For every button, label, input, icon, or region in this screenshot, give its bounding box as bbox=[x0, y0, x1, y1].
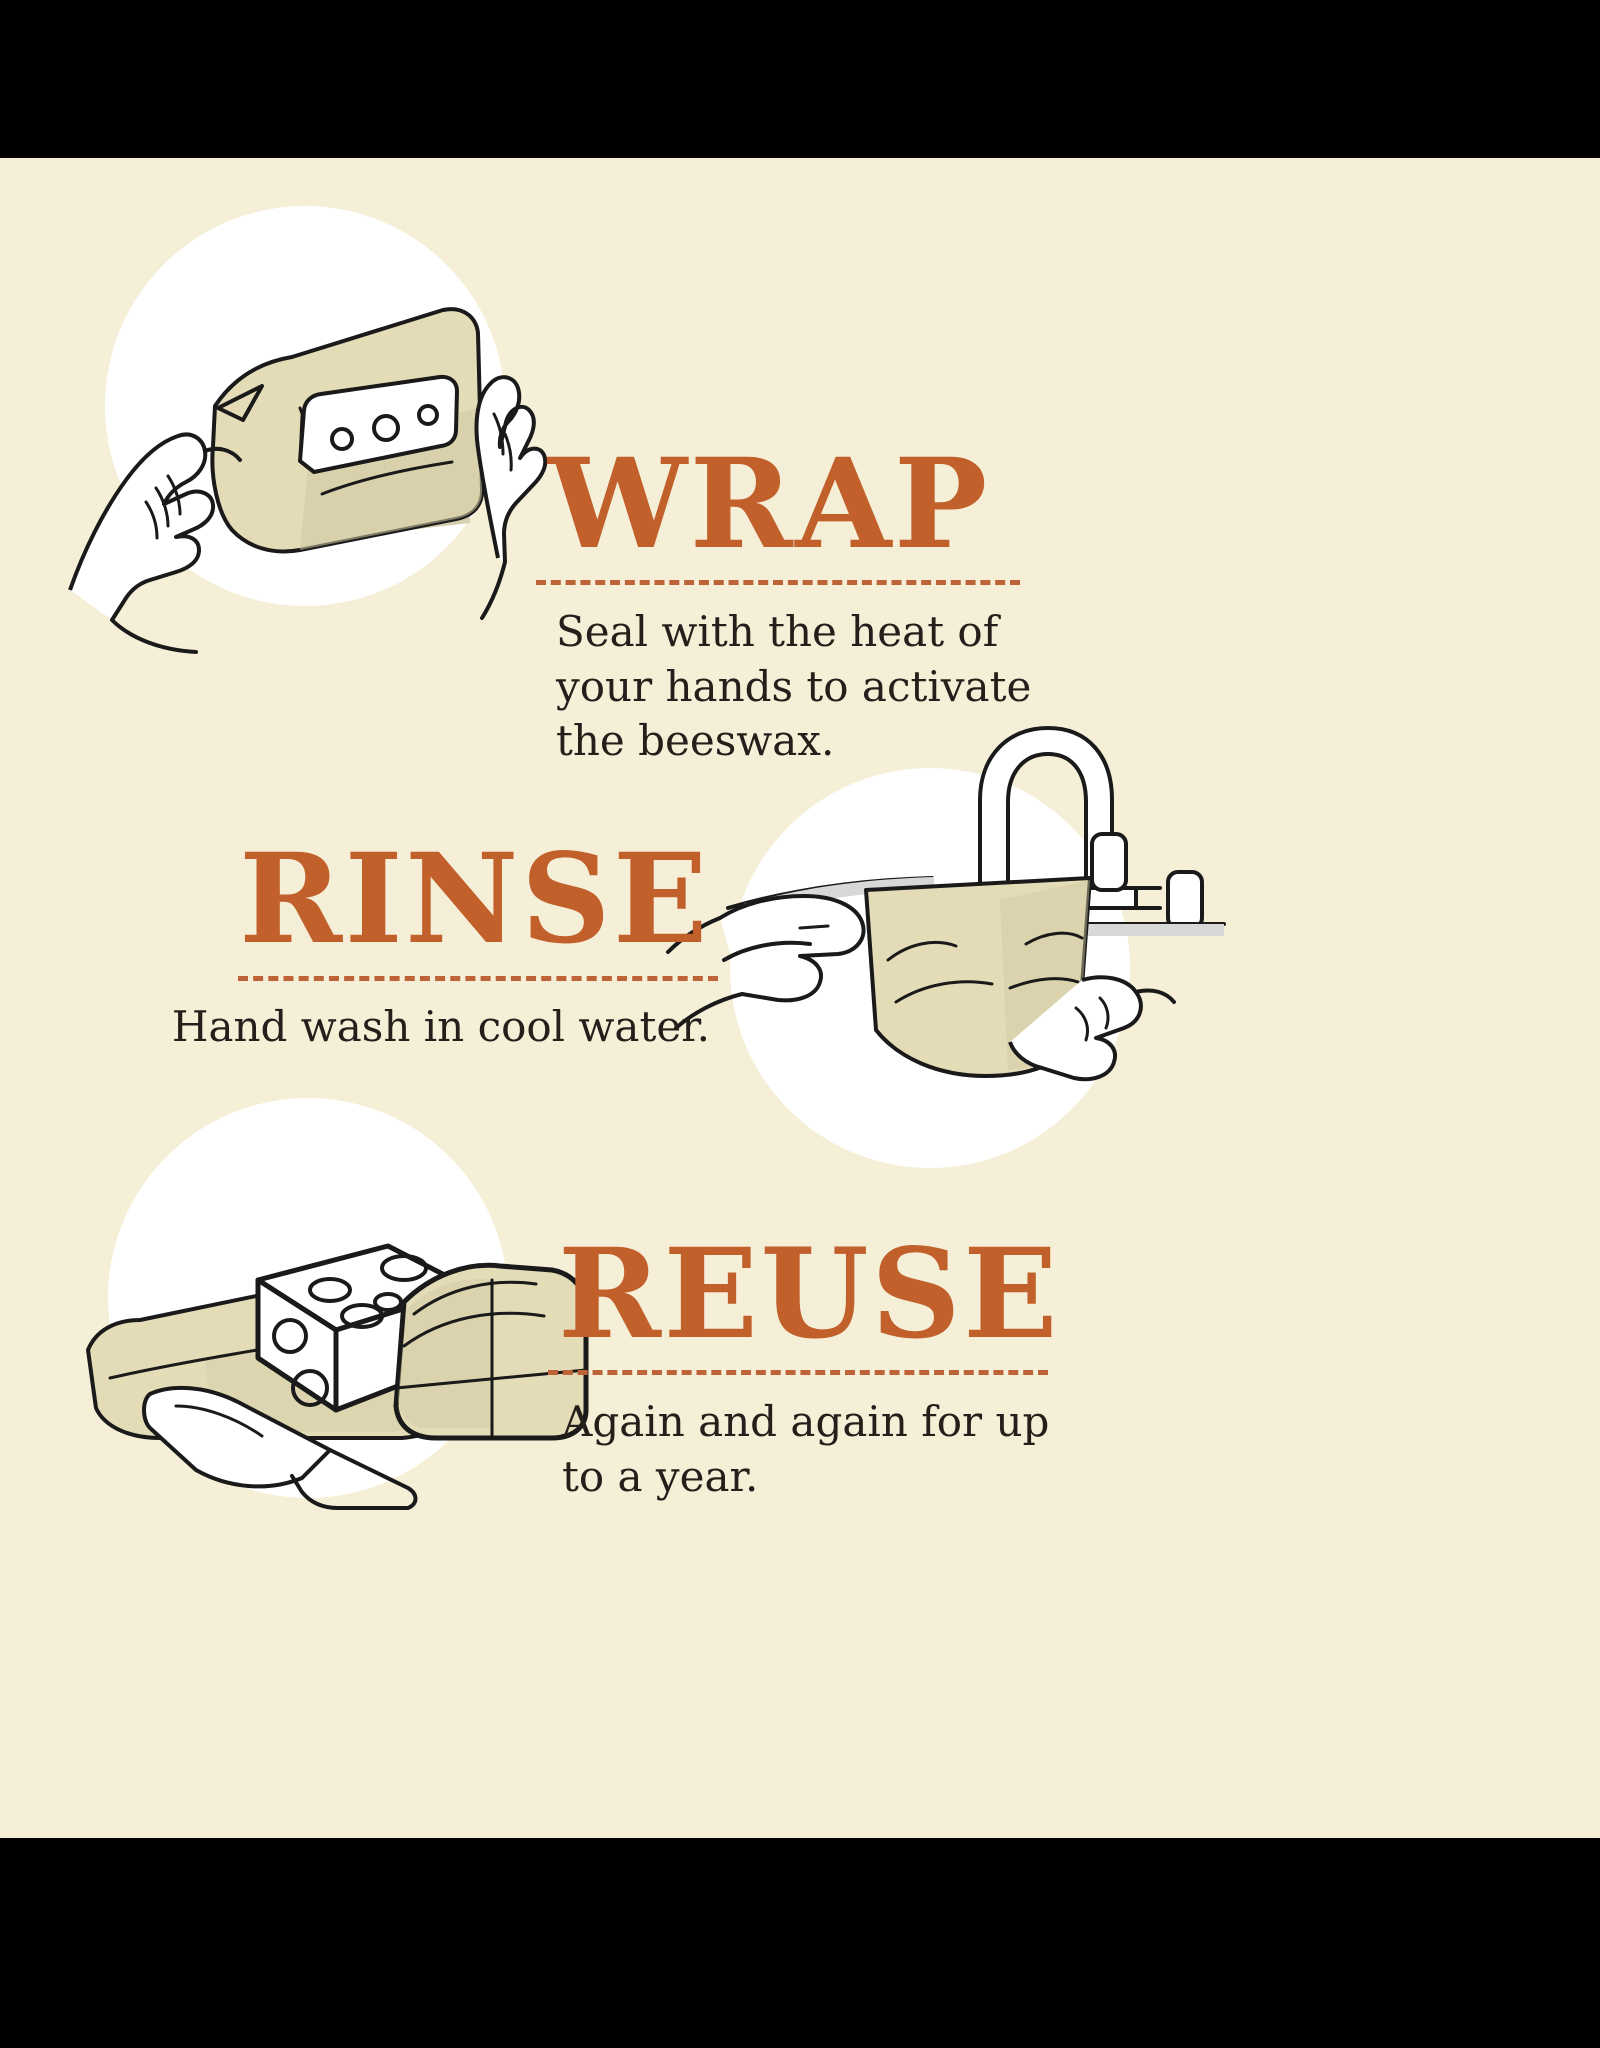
step-reuse-body: Again and again for up to a year. bbox=[562, 1395, 1062, 1504]
step-reuse: REUSE Again and again for up to a year. bbox=[0, 958, 1600, 1578]
step-rinse-heading: RINSE bbox=[150, 838, 710, 962]
letterbox-top bbox=[0, 0, 1600, 158]
step-reuse-heading: REUSE bbox=[558, 1233, 1060, 1357]
infographic-page: WRAP Seal with the heat of your hands to… bbox=[0, 0, 1600, 2048]
step-wrap-divider bbox=[536, 580, 1020, 585]
step-reuse-divider bbox=[548, 1370, 1048, 1375]
step-wrap: WRAP Seal with the heat of your hands to… bbox=[0, 158, 1600, 628]
step-wrap-heading: WRAP bbox=[548, 443, 990, 567]
letterbox-bottom bbox=[0, 1838, 1600, 2048]
infographic-canvas: WRAP Seal with the heat of your hands to… bbox=[0, 158, 1600, 1838]
